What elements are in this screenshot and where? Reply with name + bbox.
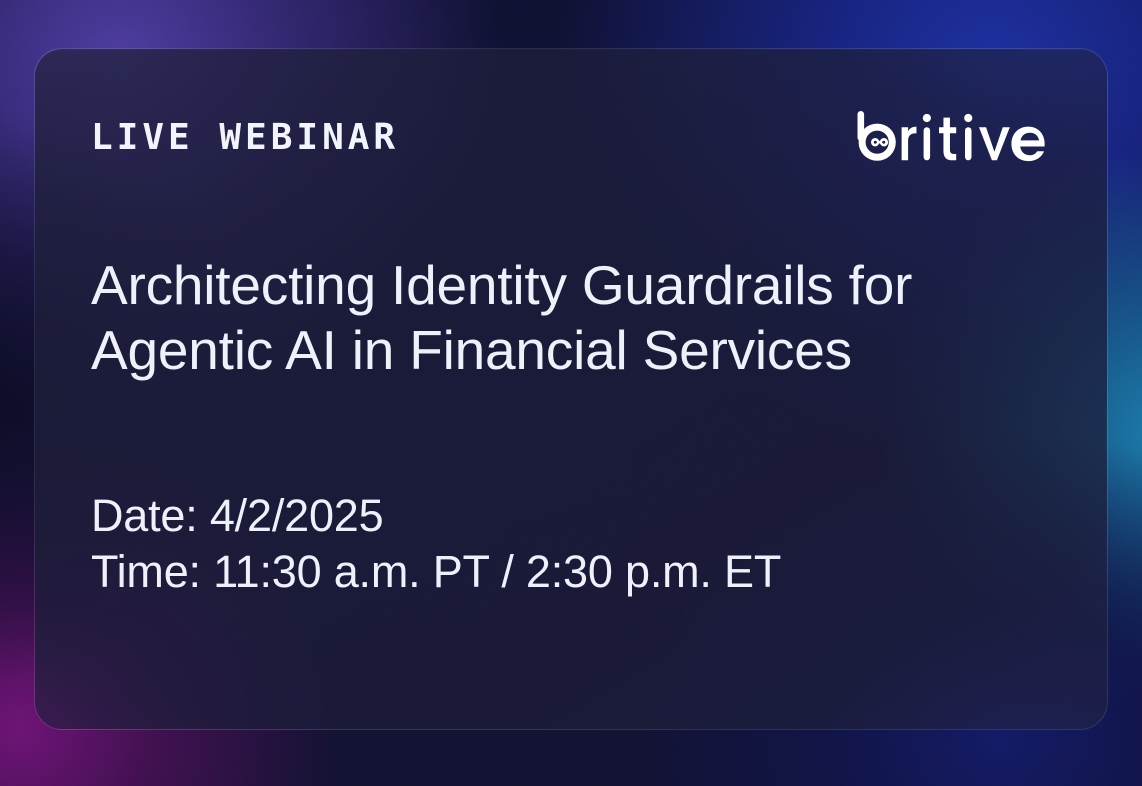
eyebrow-label: LIVE WEBINAR — [91, 120, 399, 156]
britive-wordmark-icon — [855, 111, 1051, 165]
card-header: LIVE WEBINAR — [91, 111, 1051, 165]
schedule-date: Date: 4/2/2025 — [91, 488, 1051, 544]
schedule-time: Time: 11:30 a.m. PT / 2:30 p.m. ET — [91, 544, 1051, 600]
webinar-card: LIVE WEBINAR — [34, 48, 1108, 730]
promo-backdrop: LIVE WEBINAR — [0, 0, 1142, 786]
webinar-schedule: Date: 4/2/2025 Time: 11:30 a.m. PT / 2:3… — [91, 488, 1051, 600]
webinar-title: Architecting Identity Guardrails for Age… — [91, 253, 1051, 384]
britive-logo: britive — [855, 111, 1051, 165]
